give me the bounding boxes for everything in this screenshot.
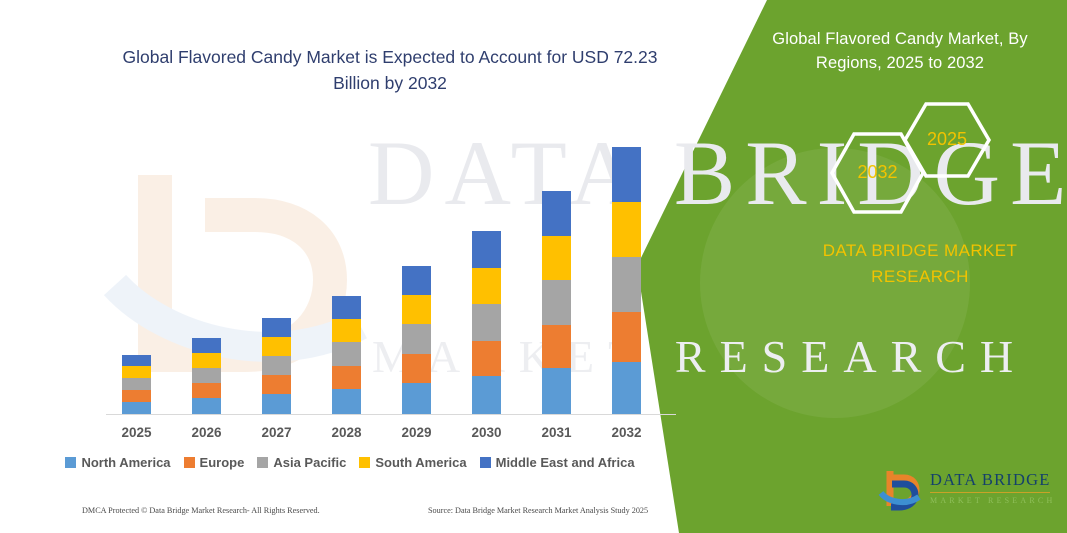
bar-segment-2028-asia-pacific[interactable] [332, 342, 361, 366]
bar-segment-2029-north-america[interactable] [402, 383, 431, 414]
chart-panel: DATA BRIDGE MARKET RESEARCH Global Flavo… [0, 0, 700, 533]
bar-segment-2027-south-america[interactable] [262, 337, 291, 356]
legend-swatch-icon [480, 457, 491, 468]
footer-copyright: DMCA Protected © Data Bridge Market Rese… [82, 506, 320, 515]
legend-item-asia-pacific[interactable]: Asia Pacific [257, 455, 346, 470]
legend-swatch-icon [359, 457, 370, 468]
x-label-2029: 2029 [387, 425, 447, 440]
bar-segment-2032-south-america[interactable] [612, 202, 641, 257]
hexagon-2025: 2025 [903, 102, 991, 178]
legend-label: Asia Pacific [273, 455, 346, 470]
logo-bridge-icon [878, 466, 924, 512]
legend-label: South America [375, 455, 466, 470]
bar-2032[interactable] [612, 147, 641, 414]
bar-segment-2027-middle-east-and-africa[interactable] [262, 318, 291, 337]
bar-segment-2030-europe[interactable] [472, 341, 501, 376]
bar-segment-2029-asia-pacific[interactable] [402, 324, 431, 354]
bars-host [0, 0, 700, 414]
legend-swatch-icon [184, 457, 195, 468]
bar-segment-2031-south-america[interactable] [542, 236, 571, 280]
bar-segment-2031-middle-east-and-africa[interactable] [542, 191, 571, 236]
bar-segment-2031-north-america[interactable] [542, 368, 571, 414]
bar-segment-2025-south-america[interactable] [122, 366, 151, 378]
bar-segment-2032-north-america[interactable] [612, 362, 641, 414]
bar-segment-2027-europe[interactable] [262, 375, 291, 394]
bar-segment-2025-north-america[interactable] [122, 402, 151, 414]
bar-segment-2030-north-america[interactable] [472, 376, 501, 414]
bar-segment-2027-asia-pacific[interactable] [262, 356, 291, 375]
x-label-2031: 2031 [527, 425, 587, 440]
bar-segment-2029-europe[interactable] [402, 354, 431, 383]
bar-segment-2031-asia-pacific[interactable] [542, 280, 571, 325]
bar-segment-2028-europe[interactable] [332, 366, 361, 389]
legend-item-north-america[interactable]: North America [65, 455, 170, 470]
bar-segment-2026-middle-east-and-africa[interactable] [192, 338, 221, 353]
bar-2027[interactable] [262, 318, 291, 414]
legend-item-europe[interactable]: Europe [184, 455, 245, 470]
bar-2030[interactable] [472, 231, 501, 414]
bar-segment-2027-north-america[interactable] [262, 394, 291, 414]
bar-segment-2030-asia-pacific[interactable] [472, 304, 501, 341]
x-axis-line [106, 414, 676, 415]
logo-divider [930, 492, 1050, 493]
panel-title: Global Flavored Candy Market, By Regions… [755, 28, 1045, 76]
footer-source: Source: Data Bridge Market Research Mark… [428, 506, 648, 515]
bar-segment-2029-south-america[interactable] [402, 295, 431, 324]
plot-area [0, 0, 700, 460]
legend-label: Europe [200, 455, 245, 470]
legend-label: Middle East and Africa [496, 455, 635, 470]
bar-segment-2026-asia-pacific[interactable] [192, 368, 221, 383]
bar-segment-2032-middle-east-and-africa[interactable] [612, 147, 641, 202]
chart-footer: DMCA Protected © Data Bridge Market Rese… [0, 506, 700, 526]
bar-segment-2028-middle-east-and-africa[interactable] [332, 296, 361, 319]
bar-segment-2032-europe[interactable] [612, 312, 641, 362]
bar-2031[interactable] [542, 191, 571, 414]
bar-segment-2029-middle-east-and-africa[interactable] [402, 266, 431, 295]
bar-segment-2028-north-america[interactable] [332, 389, 361, 414]
logo-sub-text: MARKET RESEARCH [930, 496, 1055, 505]
brand-name: DATA BRIDGE MARKET RESEARCH [790, 238, 1050, 289]
x-label-2028: 2028 [317, 425, 377, 440]
bar-segment-2032-asia-pacific[interactable] [612, 257, 641, 312]
chart-legend: North AmericaEuropeAsia PacificSouth Ame… [0, 455, 700, 470]
company-logo: DATA BRIDGE MARKET RESEARCH [878, 466, 1058, 512]
legend-item-middle-east-and-africa[interactable]: Middle East and Africa [480, 455, 635, 470]
bar-segment-2025-europe[interactable] [122, 390, 151, 402]
x-label-2025: 2025 [107, 425, 167, 440]
bar-segment-2030-south-america[interactable] [472, 268, 501, 304]
legend-item-south-america[interactable]: South America [359, 455, 466, 470]
bar-segment-2026-south-america[interactable] [192, 353, 221, 368]
x-label-2030: 2030 [457, 425, 517, 440]
bar-segment-2026-europe[interactable] [192, 383, 221, 398]
logo-main-text: DATA BRIDGE [930, 470, 1055, 490]
x-label-2032: 2032 [597, 425, 657, 440]
bar-segment-2030-middle-east-and-africa[interactable] [472, 231, 501, 268]
legend-swatch-icon [65, 457, 76, 468]
brand-name-line2: RESEARCH [790, 264, 1050, 290]
infographic-page: DATA BRIDGE MARKET RESEARCH Global Flavo… [0, 0, 1067, 533]
bar-2028[interactable] [332, 296, 361, 414]
logo-wordmark: DATA BRIDGE MARKET RESEARCH [930, 470, 1055, 505]
bar-segment-2031-europe[interactable] [542, 325, 571, 368]
brand-name-line1: DATA BRIDGE MARKET [790, 238, 1050, 264]
hexagon-2025-label: 2025 [903, 129, 991, 150]
legend-swatch-icon [257, 457, 268, 468]
bar-2029[interactable] [402, 266, 431, 414]
bar-2025[interactable] [122, 355, 151, 414]
x-label-2026: 2026 [177, 425, 237, 440]
bar-2026[interactable] [192, 338, 221, 414]
bar-segment-2025-middle-east-and-africa[interactable] [122, 355, 151, 366]
bar-segment-2028-south-america[interactable] [332, 319, 361, 342]
x-axis-labels: 20252026202720282029203020312032 [0, 425, 700, 447]
hexagon-group: 2032 2025 [830, 102, 1020, 214]
bar-segment-2025-asia-pacific[interactable] [122, 378, 151, 390]
x-label-2027: 2027 [247, 425, 307, 440]
bar-segment-2026-north-america[interactable] [192, 398, 221, 414]
legend-label: North America [81, 455, 170, 470]
